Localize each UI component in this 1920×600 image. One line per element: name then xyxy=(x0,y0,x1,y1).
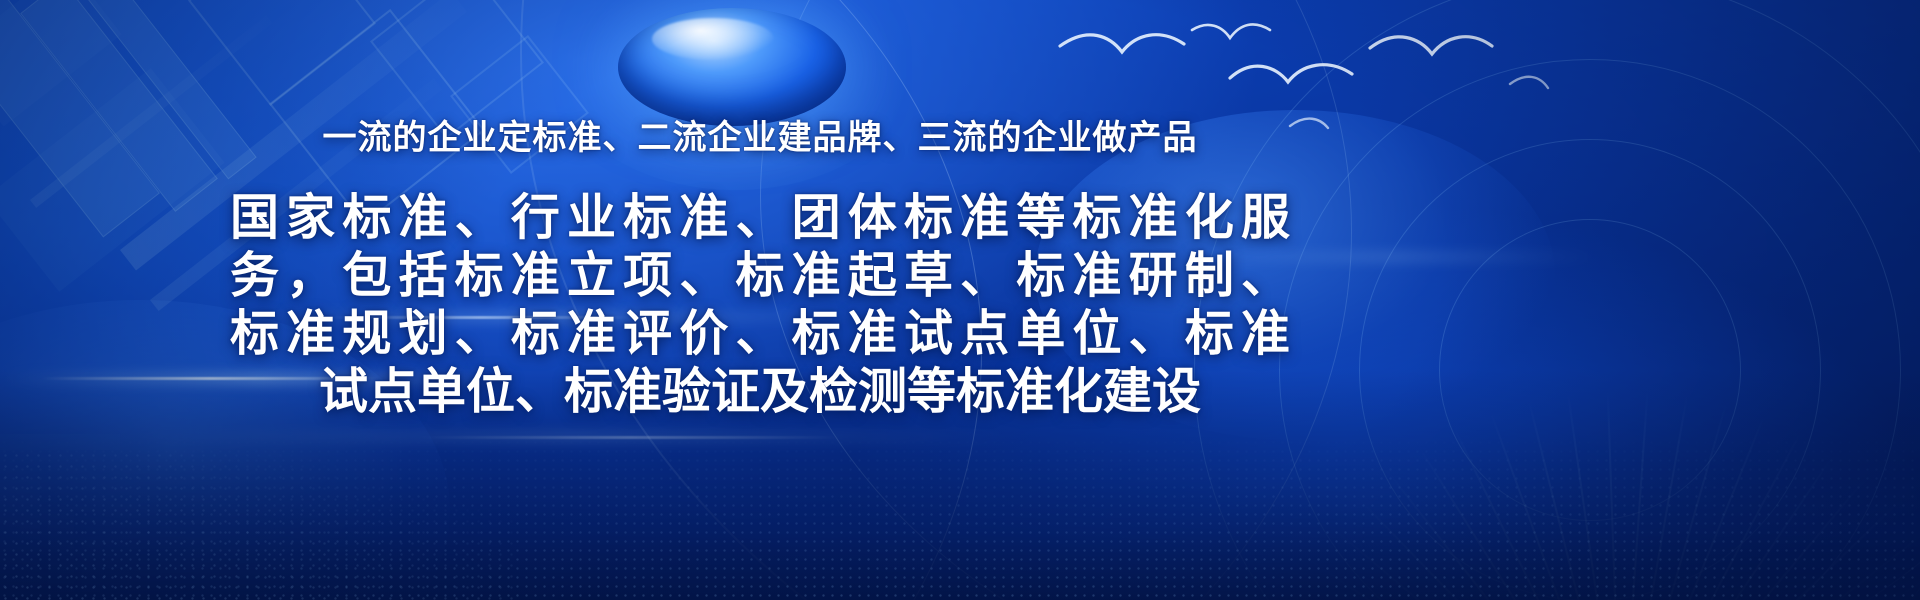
banner-body-line: 标准规划、标准评价、标准试点单位、标准 xyxy=(230,305,1290,363)
banner-text-block: 一流的企业定标准、二流企业建品牌、三流的企业做产品 国家标准、行业标准、团体标准… xyxy=(0,0,1520,600)
banner-body-line: 国家标准、行业标准、团体标准等标准化服 xyxy=(230,189,1290,247)
banner-body: 国家标准、行业标准、团体标准等标准化服 务，包括标准立项、标准起草、标准研制、 … xyxy=(230,189,1290,421)
promo-banner: 一流的企业定标准、二流企业建品牌、三流的企业做产品 国家标准、行业标准、团体标准… xyxy=(0,0,1920,600)
banner-headline: 一流的企业定标准、二流企业建品牌、三流的企业做产品 xyxy=(323,118,1198,159)
banner-body-line: 试点单位、标准验证及检测等标准化建设 xyxy=(230,363,1290,421)
banner-body-line: 务，包括标准立项、标准起草、标准研制、 xyxy=(230,247,1290,305)
